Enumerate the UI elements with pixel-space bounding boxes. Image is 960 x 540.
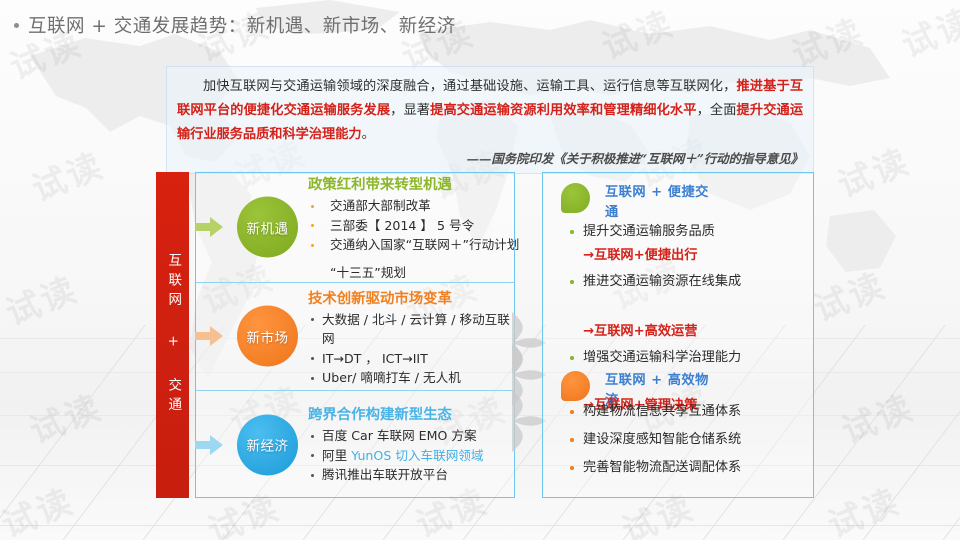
badge-new-economy: 新经济 [237, 414, 298, 475]
badge-new-opportunity: 新机遇 [237, 197, 298, 258]
right-heading-transport: 互联网 + 便捷交通 [605, 183, 717, 223]
outcome-arrow: →互联网+高效运营 [583, 321, 697, 343]
arrow-transition-icon [512, 390, 546, 452]
badge-new-market: 新市场 [237, 306, 298, 367]
left-row-bullets: 百度 Car 车联网 EMO 方案 阿里 YunOS 切入车联网领域 腾讯推出车… [308, 426, 520, 485]
list-item: 阿里 YunOS 切入车联网领域 [308, 446, 520, 466]
blob-marker-transport [561, 183, 590, 213]
arrow-right-icon [195, 216, 223, 238]
page-title-text: 互联网 + 交通发展趋势：新机遇、新市场、新经济 [28, 12, 456, 38]
badge-label: 新市场 [247, 326, 289, 346]
list-item: 提升交通运输服务品质 [568, 219, 812, 245]
list-item: 推进交通运输资源在线集成 [568, 269, 800, 295]
list-item: 构建物流信息共享互通体系 [568, 399, 812, 425]
left-row-content: 政策红利带来转型机遇 交通部大部制改革 三部委【 2014 】 5 号令 交通纳… [308, 175, 520, 255]
list-item: 完善智能物流配送调配体系 [568, 455, 812, 481]
left-panel: 新机遇 政策红利带来转型机遇 交通部大部制改革 三部委【 2014 】 5 号令… [195, 172, 515, 498]
spine-label-bar: 互联网 + 交通 [156, 172, 189, 498]
list-item-overflow: “十三五”规划 [308, 263, 406, 283]
bullet-dot-icon [14, 23, 19, 28]
arrow-right-icon [195, 325, 223, 347]
left-row-economy: 新经济 跨界合作构建新型生态 百度 Car 车联网 EMO 方案 阿里 YunO… [196, 390, 514, 499]
list-item: 增强交通运输科学治理能力 [568, 345, 800, 371]
arrow-right-icon [195, 434, 223, 456]
transition-arrows [512, 172, 546, 498]
badge-label: 新经济 [247, 435, 289, 455]
page-title: 互联网 + 交通发展趋势：新机遇、新市场、新经济 [14, 12, 456, 38]
outcome-arrow: →互联网+便捷出行 [583, 245, 697, 267]
badge-label: 新机遇 [247, 217, 289, 237]
left-row-heading: 政策红利带来转型机遇 [308, 175, 520, 195]
spine-label-text: 互联网 + 交通 [166, 253, 180, 417]
left-row-heading: 技术创新驱动市场变革 [308, 289, 520, 309]
quote-source: ——国务院印发《关于积极推进“互联网＋”行动的指导意见》 [177, 149, 803, 167]
left-row-bullets: 交通部大部制改革 三部委【 2014 】 5 号令 交通纳入国家“互联网＋”行动… [308, 196, 520, 255]
left-row-content: 技术创新驱动市场变革 大数据 / 北斗 / 云计算 / 移动互联网 IT→DT … [308, 289, 520, 388]
left-row-market: “十三五”规划 新市场 技术创新驱动市场变革 大数据 / 北斗 / 云计算 / … [196, 282, 514, 391]
list-item: IT→DT ， ICT→IIT [308, 349, 520, 369]
list-item: 建设深度感知智能仓储系统 [568, 427, 812, 453]
right-panel: 互联网 + 便捷交通 提升交通运输服务品质 →互联网+便捷出行 推进交通运输资源… [542, 172, 814, 498]
list-item: 交通纳入国家“互联网＋”行动计划 [308, 235, 520, 255]
left-row-bullets: 大数据 / 北斗 / 云计算 / 移动互联网 IT→DT ， ICT→IIT U… [308, 310, 520, 388]
left-row-content: 跨界合作构建新型生态 百度 Car 车联网 EMO 方案 阿里 YunOS 切入… [308, 405, 520, 485]
list-item: 腾讯推出车联开放平台 [308, 465, 520, 485]
list-item: 百度 Car 车联网 EMO 方案 [308, 426, 520, 446]
quote-paragraph: 加快互联网与交通运输领域的深度融合，通过基础设施、运输工具、运行信息等互联网化，… [177, 75, 803, 147]
list-item: 三部委【 2014 】 5 号令 [308, 216, 520, 236]
left-row-heading: 跨界合作构建新型生态 [308, 405, 520, 425]
quote-box: 加快互联网与交通运输领域的深度融合，通过基础设施、运输工具、运行信息等互联网化，… [166, 66, 814, 174]
list-item: 大数据 / 北斗 / 云计算 / 移动互联网 [308, 310, 520, 349]
list-item: 交通部大部制改革 [308, 196, 520, 216]
list-item: Uber/ 嘀嘀打车 / 无人机 [308, 368, 520, 388]
